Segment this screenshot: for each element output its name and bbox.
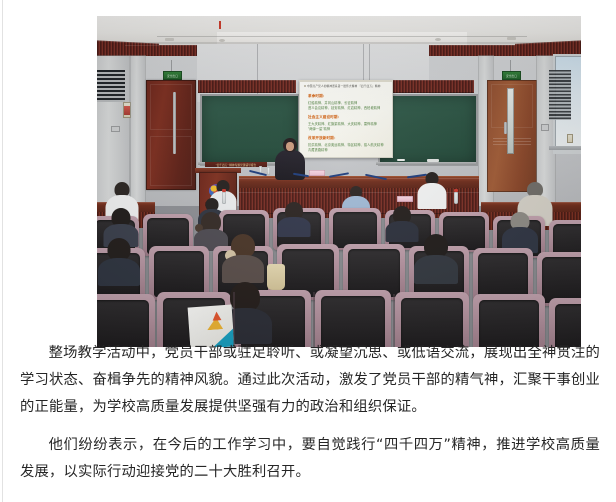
exit-sign-right-label: 安全出口 [506, 74, 517, 78]
ceiling-seam [157, 36, 527, 37]
bottle-cap [222, 189, 226, 192]
ceiling-vent [165, 38, 174, 41]
fire-notice-left [124, 106, 130, 115]
door-handle-right [504, 122, 507, 134]
desk-name-card [309, 170, 325, 176]
attendee [417, 172, 447, 208]
exit-sign-left: 安全出口 [163, 71, 182, 80]
projector-indicator-light [219, 21, 221, 29]
speaker-face [286, 142, 294, 151]
slide-section-line: 遵义会议精神、延安精神、红岩精神、西柏坡精神 [308, 105, 380, 110]
attendee-shoulders [222, 255, 264, 283]
ceiling-vent [219, 39, 225, 42]
attendee [221, 234, 265, 280]
water-bottle [267, 167, 270, 175]
slide-bullet-icon [304, 85, 306, 87]
speaker-grille-left [97, 70, 125, 102]
chalk-tray-right [376, 162, 476, 165]
board-header-trim-left [198, 80, 296, 93]
seat-cushion [154, 251, 204, 297]
attendee-shoulders [414, 255, 458, 284]
photo-scene: 安全出口 中国共产党人的精神谱系第一批伟大精神 「四千四万」精神 [97, 16, 581, 347]
podium-banner: "四千四万" 精神专题党课辅导报告 [205, 162, 267, 167]
classroom-lecture-photo: 安全出口 中国共产党人的精神谱系第一批伟大精神 「四千四万」精神 [97, 16, 581, 347]
attendee-shoulders [418, 183, 447, 209]
door-panel [150, 136, 192, 186]
slide-section-heading: 革命时期： [308, 94, 326, 99]
slide-section-heading: 改革开放新时期： [308, 136, 338, 141]
seat-gap [313, 292, 315, 347]
water-bottle [454, 192, 458, 204]
slide-section-heading: 社会主义建设时期： [308, 115, 341, 120]
seat-cushion [542, 257, 581, 303]
door-handle-left [173, 92, 176, 154]
bottle-cap [454, 189, 458, 192]
window-blinds-right [549, 70, 571, 120]
exit-sign-left-label: 安全出口 [167, 74, 178, 78]
paragraph: 整场教学活动中，党员干部或驻足聆听、或凝望沉思、或低语交流，展现出全神贯注的学习… [20, 340, 600, 421]
attendee-shoulders [98, 258, 140, 286]
slide-title: 中国共产党人的精神谱系第一批伟大精神 「四千四万」精神 [307, 84, 381, 88]
seat [395, 292, 469, 347]
slide-topbar [299, 80, 393, 82]
ceiling-vent [507, 37, 516, 40]
ceiling-vent [435, 38, 441, 41]
desk-name-card [397, 196, 413, 202]
attendee [97, 238, 141, 284]
slide-section-line: 青藏铁路精神 [308, 147, 328, 152]
door-vision-panel [507, 88, 514, 154]
projection-screen: 中国共产党人的精神谱系第一批伟大精神 「四千四万」精神 革命时期： 红船精神、井… [299, 80, 393, 158]
attendee [413, 234, 459, 282]
article-text: 整场教学活动中，党员干部或驻足聆听、或凝望沉思、或低语交流，展现出全神贯注的学习… [20, 340, 600, 497]
eraser [427, 159, 439, 162]
door-panel [150, 84, 192, 130]
article-body: 安全出口 中国共产党人的精神谱系第一批伟大精神 「四千四万」精神 [0, 0, 616, 502]
chalk-piece [397, 159, 405, 161]
seat [315, 290, 391, 347]
seat-cushion [478, 253, 528, 299]
handout-graphic [212, 311, 222, 321]
attendee [277, 202, 311, 234]
attendee-shoulders [278, 217, 311, 237]
wall-switch-left [111, 126, 120, 132]
door-left [146, 80, 196, 190]
attendee [501, 212, 539, 252]
exit-sign-right: 安全出口 [502, 71, 521, 80]
window-sill-right [549, 146, 581, 150]
slide-section-line: "两弹一星"精神 [308, 126, 330, 131]
seat-cushion [333, 212, 377, 248]
chalkboard-right [378, 94, 478, 166]
window-latch [567, 134, 573, 143]
seat-gap [233, 292, 235, 347]
paragraph: 他们纷纷表示，在今后的工作学习中，要自觉践行“四千四万”精神，推进学校高质量发展… [20, 432, 600, 486]
wall-switch-right [541, 124, 549, 131]
